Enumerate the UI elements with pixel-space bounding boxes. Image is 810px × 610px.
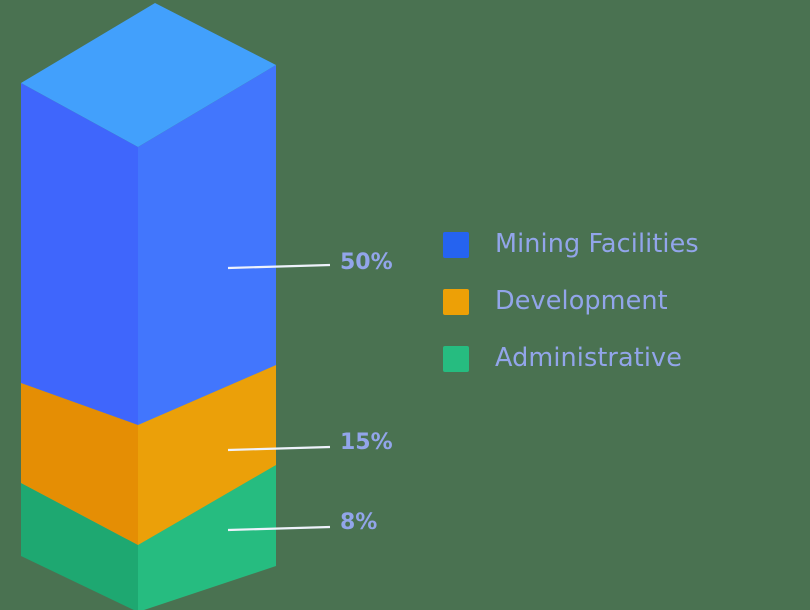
chart-root: 50% 15% 8% Mining Facilities Development… <box>0 0 810 610</box>
legend-label-administrative: Administrative <box>495 346 682 372</box>
legend-swatch-icon-administrative <box>443 346 469 372</box>
legend-item-mining-facilities[interactable]: Mining Facilities <box>443 228 699 262</box>
legend-item-administrative[interactable]: Administrative <box>443 342 699 376</box>
bar-segment-mining-facilities[interactable] <box>21 3 276 425</box>
legend-item-development[interactable]: Development <box>443 285 699 319</box>
value-label-administrative: 8% <box>340 512 377 534</box>
value-label-mining-facilities: 50% <box>340 252 393 274</box>
value-label-development: 15% <box>340 432 393 454</box>
legend-label-development: Development <box>495 289 668 315</box>
legend-swatch-icon-development <box>443 289 469 315</box>
legend: Mining Facilities Development Administra… <box>443 228 699 376</box>
legend-swatch-icon-mining-facilities <box>443 232 469 258</box>
legend-label-mining-facilities: Mining Facilities <box>495 232 699 258</box>
